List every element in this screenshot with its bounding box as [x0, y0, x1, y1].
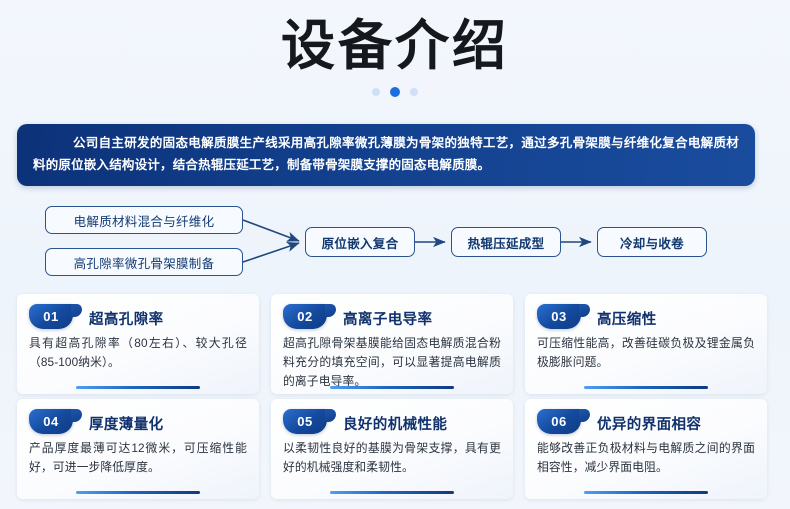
card-title: 高压缩性 [597, 308, 657, 329]
carousel-dots[interactable] [0, 86, 790, 98]
card-title: 高离子电导率 [343, 308, 432, 329]
flow-box-skeleton-film-prep[interactable]: 高孔隙率微孔骨架膜制备 [45, 248, 243, 276]
card-description: 具有超高孔隙率（80左右）、较大孔径（85-100纳米）。 [29, 334, 247, 372]
process-flow-diagram: 电解质材料混合与纤维化 高孔隙率微孔骨架膜制备 原位嵌入复合 热辊压延成型 冷却… [17, 198, 755, 286]
card-accent-bar [330, 386, 454, 389]
card-header: 06 优异的界面相容 [537, 409, 755, 436]
card-number-badge: 01 [29, 304, 73, 329]
equipment-introduction-page: 设备介绍 公司自主研发的固态电解质膜生产线采用高孔隙率微孔薄膜为骨架的独特工艺，… [0, 0, 790, 509]
card-header: 05 良好的机械性能 [283, 409, 501, 436]
intro-banner-text: 公司自主研发的固态电解质膜生产线采用高孔隙率微孔薄膜为骨架的独特工艺，通过多孔骨… [33, 133, 739, 176]
intro-banner: 公司自主研发的固态电解质膜生产线采用高孔隙率微孔薄膜为骨架的独特工艺，通过多孔骨… [17, 124, 755, 186]
card-accent-bar [330, 491, 454, 494]
flow-box-electrolyte-mixing[interactable]: 电解质材料混合与纤维化 [45, 206, 243, 234]
feature-card-03[interactable]: 03 高压缩性 可压缩性能高，改善硅碳负极及锂金属负极膨胀问题。 [525, 294, 767, 394]
feature-card-grid: 01 超高孔隙率 具有超高孔隙率（80左右）、较大孔径（85-100纳米）。 0… [17, 294, 773, 499]
feature-card-06[interactable]: 06 优异的界面相容 能够改善正负极材料与电解质之间的界面相容性，减少界面电阻。 [525, 399, 767, 499]
feature-card-04[interactable]: 04 厚度薄量化 产品厚度最薄可达12微米，可压缩性能好，可进一步降低厚度。 [17, 399, 259, 499]
card-title: 厚度薄量化 [89, 413, 164, 434]
card-number-badge: 03 [537, 304, 581, 329]
card-number-badge: 04 [29, 409, 73, 434]
card-title: 超高孔隙率 [89, 308, 164, 329]
page-header: 设备介绍 [0, 14, 790, 98]
card-number-badge: 05 [283, 409, 327, 434]
page-title: 设备介绍 [0, 14, 790, 78]
flow-box-hot-roll-calendering[interactable]: 热辊压延成型 [451, 227, 561, 257]
card-title: 优异的界面相容 [597, 413, 701, 434]
flow-box-in-situ-embedding[interactable]: 原位嵌入复合 [305, 227, 415, 257]
card-accent-bar [584, 491, 708, 494]
card-number-badge: 02 [283, 304, 327, 329]
feature-card-02[interactable]: 02 高离子电导率 超高孔隙骨架基膜能给固态电解质混合粉料充分的填充空间，可以显… [271, 294, 513, 394]
card-header: 04 厚度薄量化 [29, 409, 247, 436]
carousel-dot-1[interactable] [372, 88, 380, 96]
card-description: 可压缩性能高，改善硅碳负极及锂金属负极膨胀问题。 [537, 334, 755, 372]
carousel-dot-3[interactable] [410, 88, 418, 96]
card-header: 01 超高孔隙率 [29, 304, 247, 331]
feature-card-05[interactable]: 05 良好的机械性能 以柔韧性良好的基膜为骨架支撑，具有更好的机械强度和柔韧性。 [271, 399, 513, 499]
card-number-badge: 06 [537, 409, 581, 434]
card-header: 02 高离子电导率 [283, 304, 501, 331]
card-description: 能够改善正负极材料与电解质之间的界面相容性，减少界面电阻。 [537, 439, 755, 477]
card-accent-bar [584, 386, 708, 389]
card-header: 03 高压缩性 [537, 304, 755, 331]
flow-box-cooling-winding[interactable]: 冷却与收卷 [597, 227, 707, 257]
feature-card-01[interactable]: 01 超高孔隙率 具有超高孔隙率（80左右）、较大孔径（85-100纳米）。 [17, 294, 259, 394]
carousel-dot-2[interactable] [390, 87, 400, 97]
card-description: 以柔韧性良好的基膜为骨架支撑，具有更好的机械强度和柔韧性。 [283, 439, 501, 477]
card-description: 超高孔隙骨架基膜能给固态电解质混合粉料充分的填充空间，可以显著提高电解质的离子电… [283, 334, 501, 391]
card-accent-bar [76, 386, 200, 389]
card-accent-bar [76, 491, 200, 494]
card-description: 产品厚度最薄可达12微米，可压缩性能好，可进一步降低厚度。 [29, 439, 247, 477]
card-title: 良好的机械性能 [343, 413, 447, 434]
